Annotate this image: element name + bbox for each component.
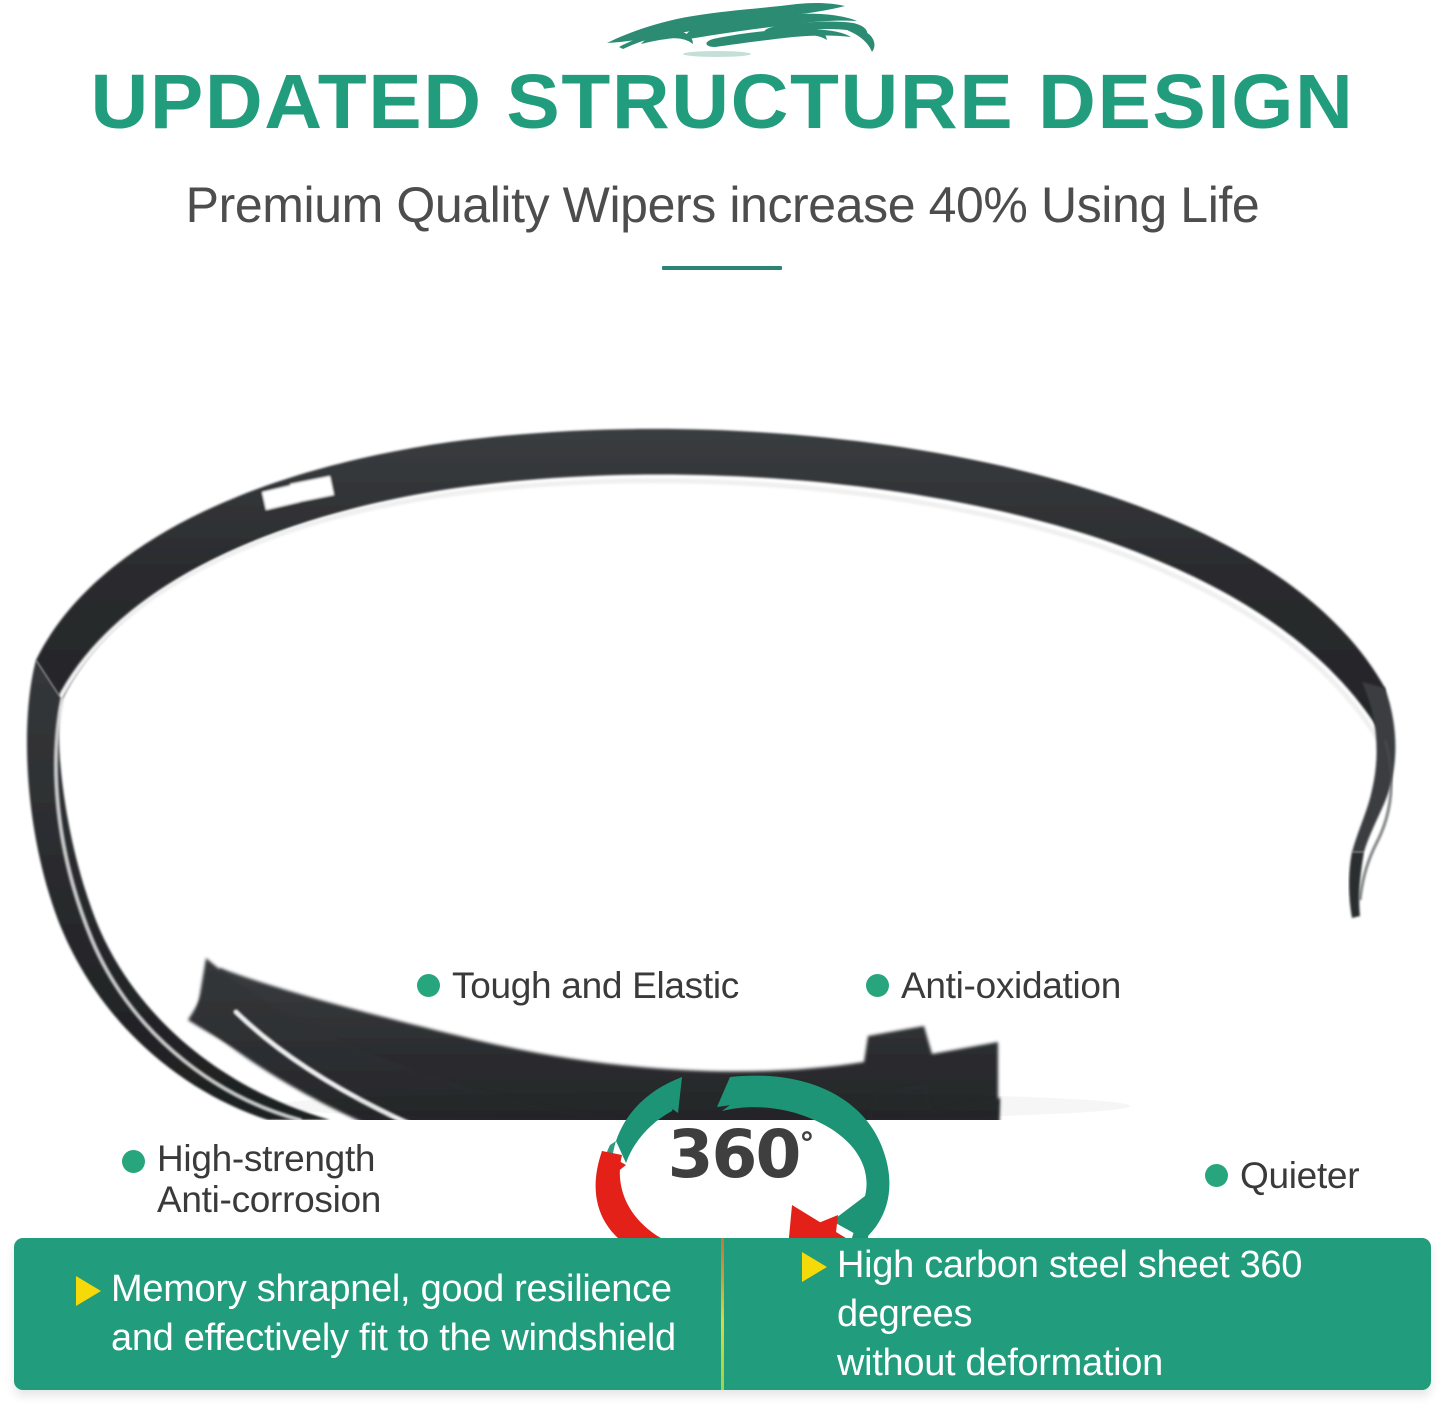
bullet-dot-icon (866, 974, 889, 997)
feature-high-strength-anti-corrosion: High-strength Anti-corrosion (122, 1138, 381, 1220)
feature-label-block: High-strength Anti-corrosion (157, 1138, 381, 1220)
banner-line1: High carbon steel sheet 360 degrees (837, 1244, 1302, 1335)
bullet-dot-icon (417, 974, 440, 997)
page-subtitle: Premium Quality Wipers increase 40% Usin… (0, 176, 1445, 234)
triangle-bullet-icon (802, 1252, 827, 1282)
banner-line1: Memory shrapnel, good resilience (111, 1268, 672, 1310)
triangle-bullet-icon (76, 1276, 101, 1306)
feature-label: Tough and Elastic (452, 965, 739, 1006)
banner-text: High carbon steel sheet 360 degrees with… (837, 1241, 1415, 1388)
title-underline-divider (662, 266, 782, 270)
banner-line2: and effectively fit to the windshield (111, 1317, 676, 1359)
banner-text: Memory shrapnel, good resilience and eff… (111, 1265, 676, 1363)
banner-item-high-carbon-steel: High carbon steel sheet 360 degrees with… (724, 1238, 1431, 1390)
feature-label: Quieter (1240, 1155, 1359, 1196)
sports-car-silhouette-icon (589, 2, 881, 58)
page-title: UPDATED STRUCTURE DESIGN (0, 62, 1445, 142)
feature-tough-and-elastic: Tough and Elastic (417, 965, 739, 1006)
feature-label-line2: Anti-corrosion (157, 1179, 381, 1220)
bottom-feature-banner: Memory shrapnel, good resilience and eff… (14, 1238, 1431, 1390)
feature-anti-oxidation: Anti-oxidation (866, 965, 1121, 1006)
badge-value: 360° (570, 1109, 920, 1191)
bullet-dot-icon (1205, 1164, 1228, 1187)
windshield-wiper-steel-strip-image (0, 400, 1445, 1120)
bullet-dot-icon (122, 1150, 145, 1173)
infographic-page: UPDATED STRUCTURE DESIGN Premium Quality… (0, 0, 1445, 1421)
feature-label: Anti-oxidation (901, 965, 1121, 1006)
banner-item-memory-shrapnel: Memory shrapnel, good resilience and eff… (14, 1238, 721, 1390)
banner-line2: without deformation (837, 1342, 1163, 1384)
product-image-area: Tough and Elastic Anti-oxidation High-st… (0, 400, 1445, 1120)
feature-label-line1: High-strength (157, 1138, 375, 1179)
feature-quieter: Quieter (1205, 1155, 1359, 1196)
